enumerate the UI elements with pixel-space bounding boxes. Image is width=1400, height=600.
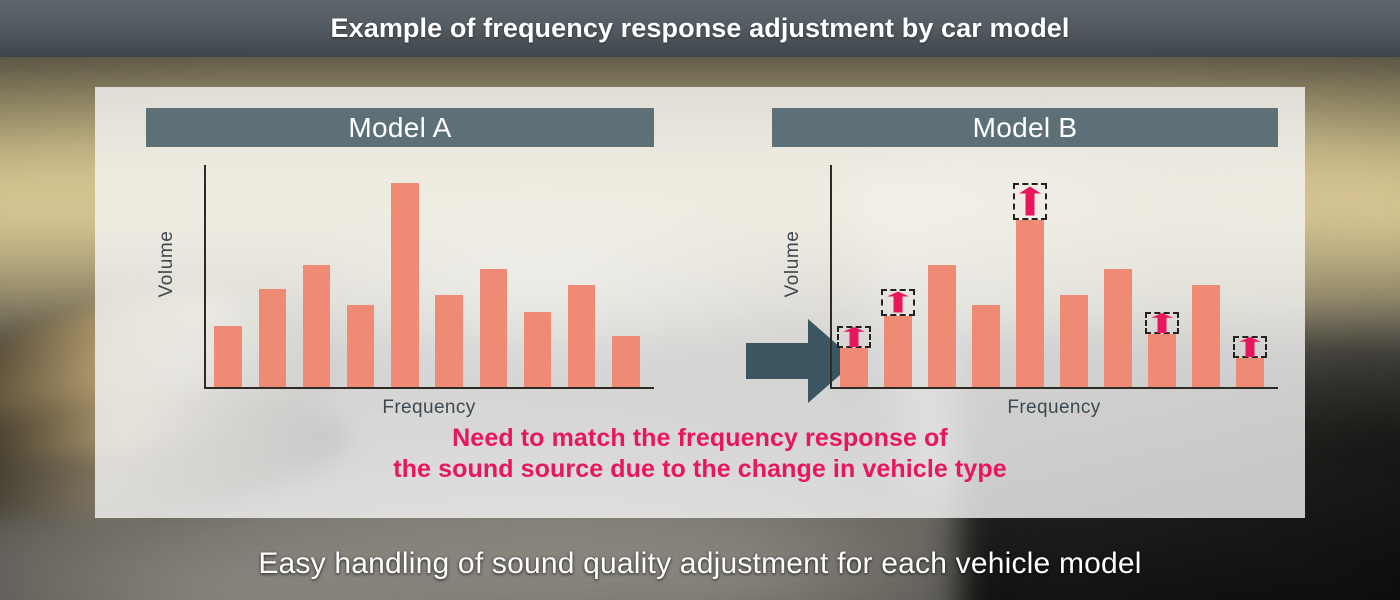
bar-boost-annotation bbox=[1013, 183, 1048, 220]
up-arrow-icon bbox=[887, 292, 909, 313]
bar-slot bbox=[568, 183, 595, 387]
title-banner: Example of frequency response adjustment… bbox=[0, 0, 1400, 57]
model-a-x-axis-label: Frequency bbox=[204, 397, 654, 419]
bar bbox=[1104, 269, 1131, 387]
bar bbox=[1236, 358, 1263, 387]
bar bbox=[259, 289, 286, 387]
up-arrow-icon bbox=[1151, 313, 1173, 333]
bar-slot bbox=[391, 183, 418, 387]
bottom-caption: Easy handling of sound quality adjustmen… bbox=[0, 528, 1400, 600]
up-arrow-icon bbox=[843, 327, 865, 347]
bar-slot bbox=[435, 183, 462, 387]
bar-boost-annotation bbox=[1233, 336, 1268, 358]
bar bbox=[480, 269, 507, 387]
bar bbox=[1060, 295, 1087, 387]
bar-slot bbox=[972, 183, 999, 387]
callout-message: Need to match the frequency response of … bbox=[95, 423, 1305, 485]
up-arrow-icon bbox=[1239, 337, 1261, 357]
bar bbox=[928, 265, 955, 387]
bar bbox=[303, 265, 330, 387]
content-panel: Model A Volume Frequency Model B bbox=[95, 87, 1305, 518]
bar-slot bbox=[612, 183, 639, 387]
bar-slot bbox=[303, 183, 330, 387]
model-b-x-axis-label: Frequency bbox=[830, 397, 1278, 419]
model-b-header: Model B bbox=[772, 108, 1278, 147]
bar bbox=[391, 183, 418, 387]
bar bbox=[435, 295, 462, 387]
callout-line-2: the sound source due to the change in ve… bbox=[95, 454, 1305, 485]
bar-slot bbox=[214, 183, 241, 387]
model-a-y-axis-label: Volume bbox=[156, 219, 178, 309]
callout-line-1: Need to match the frequency response of bbox=[452, 424, 948, 452]
bar-slot bbox=[1016, 183, 1043, 387]
model-a-plot: Volume Frequency bbox=[146, 165, 654, 405]
bar bbox=[1016, 220, 1043, 387]
bar-slot bbox=[1192, 183, 1219, 387]
model-a-x-axis bbox=[204, 387, 654, 389]
slide-stage: Example of frequency response adjustment… bbox=[0, 0, 1400, 600]
bar bbox=[840, 348, 867, 387]
bar-slot bbox=[259, 183, 286, 387]
bar bbox=[1148, 334, 1175, 387]
bar bbox=[972, 305, 999, 387]
model-b-title: Model B bbox=[973, 112, 1078, 144]
bar-slot bbox=[928, 183, 955, 387]
bar-slot bbox=[840, 183, 867, 387]
bar-slot bbox=[1236, 183, 1263, 387]
bar-slot bbox=[1060, 183, 1087, 387]
bar-slot bbox=[480, 183, 507, 387]
bar-slot bbox=[1148, 183, 1175, 387]
up-arrow-icon bbox=[1019, 187, 1041, 216]
model-b-x-axis bbox=[830, 387, 1278, 389]
bar bbox=[612, 336, 639, 387]
banner-title: Example of frequency response adjustment… bbox=[330, 13, 1069, 44]
model-b-bars bbox=[832, 183, 1272, 387]
bar-slot bbox=[884, 183, 911, 387]
model-a-header: Model A bbox=[146, 108, 654, 147]
bar bbox=[568, 285, 595, 387]
bar bbox=[347, 305, 374, 387]
bar bbox=[214, 326, 241, 387]
bar-boost-annotation bbox=[837, 326, 872, 348]
model-a-bars bbox=[206, 183, 648, 387]
bar bbox=[1192, 285, 1219, 387]
bar-slot bbox=[1104, 183, 1131, 387]
bar-boost-annotation bbox=[881, 289, 916, 316]
bar-slot bbox=[524, 183, 551, 387]
bar bbox=[884, 316, 911, 387]
model-b-y-axis-label: Volume bbox=[782, 219, 804, 309]
bar-boost-annotation bbox=[1145, 312, 1180, 334]
bar-slot bbox=[347, 183, 374, 387]
model-a-title: Model A bbox=[348, 112, 451, 144]
model-b-plot: Volume Frequency bbox=[772, 165, 1278, 405]
caption-text: Easy handling of sound quality adjustmen… bbox=[258, 547, 1141, 581]
bar bbox=[524, 312, 551, 387]
